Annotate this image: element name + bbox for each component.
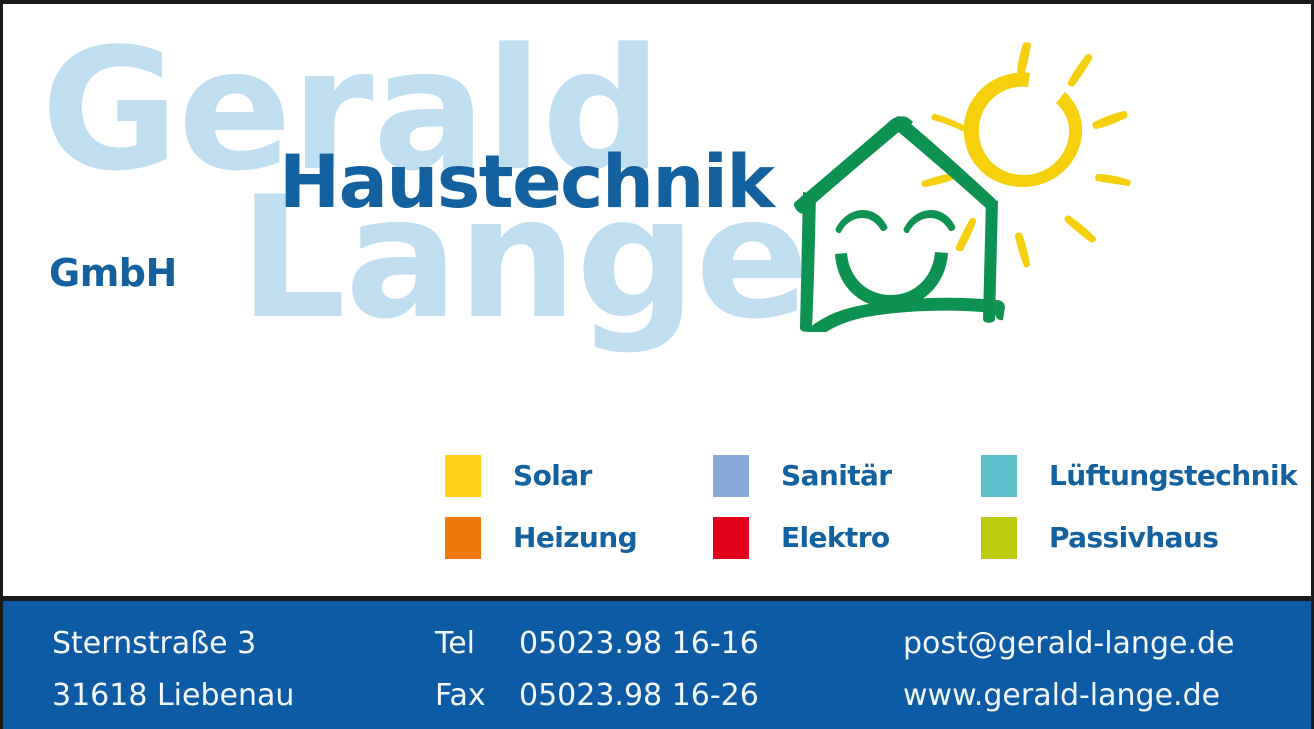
headline-haustechnik: Haustechnik <box>279 146 773 219</box>
service-item-heizung: Heizung <box>445 507 713 569</box>
services-legend: Solar Heizung Sanitär Elektro Lüftungste… <box>445 445 1281 569</box>
footer-fax-label: Fax <box>435 670 519 722</box>
service-swatch-passivhaus <box>981 517 1017 559</box>
service-swatch-solar <box>445 455 481 497</box>
sun-icon <box>922 42 1131 267</box>
service-label-lueftungstechnik: Lüftungstechnik <box>1049 462 1297 490</box>
service-swatch-sanitaer <box>713 455 749 497</box>
service-label-sanitaer: Sanitär <box>781 462 891 490</box>
service-label-heizung: Heizung <box>513 524 637 552</box>
service-item-sanitaer: Sanitär <box>713 445 981 507</box>
footer-email[interactable]: post@gerald-lange.de <box>903 618 1234 670</box>
footer-tel-label: Tel <box>435 618 519 670</box>
logo-artwork <box>773 32 1143 332</box>
footer-fax-row: Fax05023.98 16-26 <box>435 670 759 722</box>
footer-web-column: post@gerald-lange.de www.gerald-lange.de <box>903 618 1234 722</box>
footer-website[interactable]: www.gerald-lange.de <box>903 670 1234 722</box>
business-card: Gerald Lange Haustechnik GmbH <box>0 0 1314 729</box>
service-item-lueftungstechnik: Lüftungstechnik <box>981 445 1281 507</box>
service-swatch-elektro <box>713 517 749 559</box>
service-swatch-heizung <box>445 517 481 559</box>
footer-address-column: Sternstraße 3 31618 Liebenau <box>52 618 294 722</box>
footer-phone-column: Tel05023.98 16-16 Fax05023.98 16-26 <box>435 618 759 722</box>
service-label-passivhaus: Passivhaus <box>1049 524 1218 552</box>
legal-form-gmbh: GmbH <box>49 254 177 292</box>
service-label-solar: Solar <box>513 462 592 490</box>
footer-city: 31618 Liebenau <box>52 670 294 722</box>
service-swatch-lueftungstechnik <box>981 455 1017 497</box>
footer-fax-value: 05023.98 16-26 <box>519 678 759 713</box>
service-label-elektro: Elektro <box>781 524 890 552</box>
footer-street: Sternstraße 3 <box>52 618 294 670</box>
service-item-solar: Solar <box>445 445 713 507</box>
footer-tel-value: 05023.98 16-16 <box>519 626 759 661</box>
contact-footer: Sternstraße 3 31618 Liebenau Tel05023.98… <box>0 596 1314 729</box>
service-item-elektro: Elektro <box>713 507 981 569</box>
footer-tel-row: Tel05023.98 16-16 <box>435 618 759 670</box>
service-item-passivhaus: Passivhaus <box>981 507 1281 569</box>
